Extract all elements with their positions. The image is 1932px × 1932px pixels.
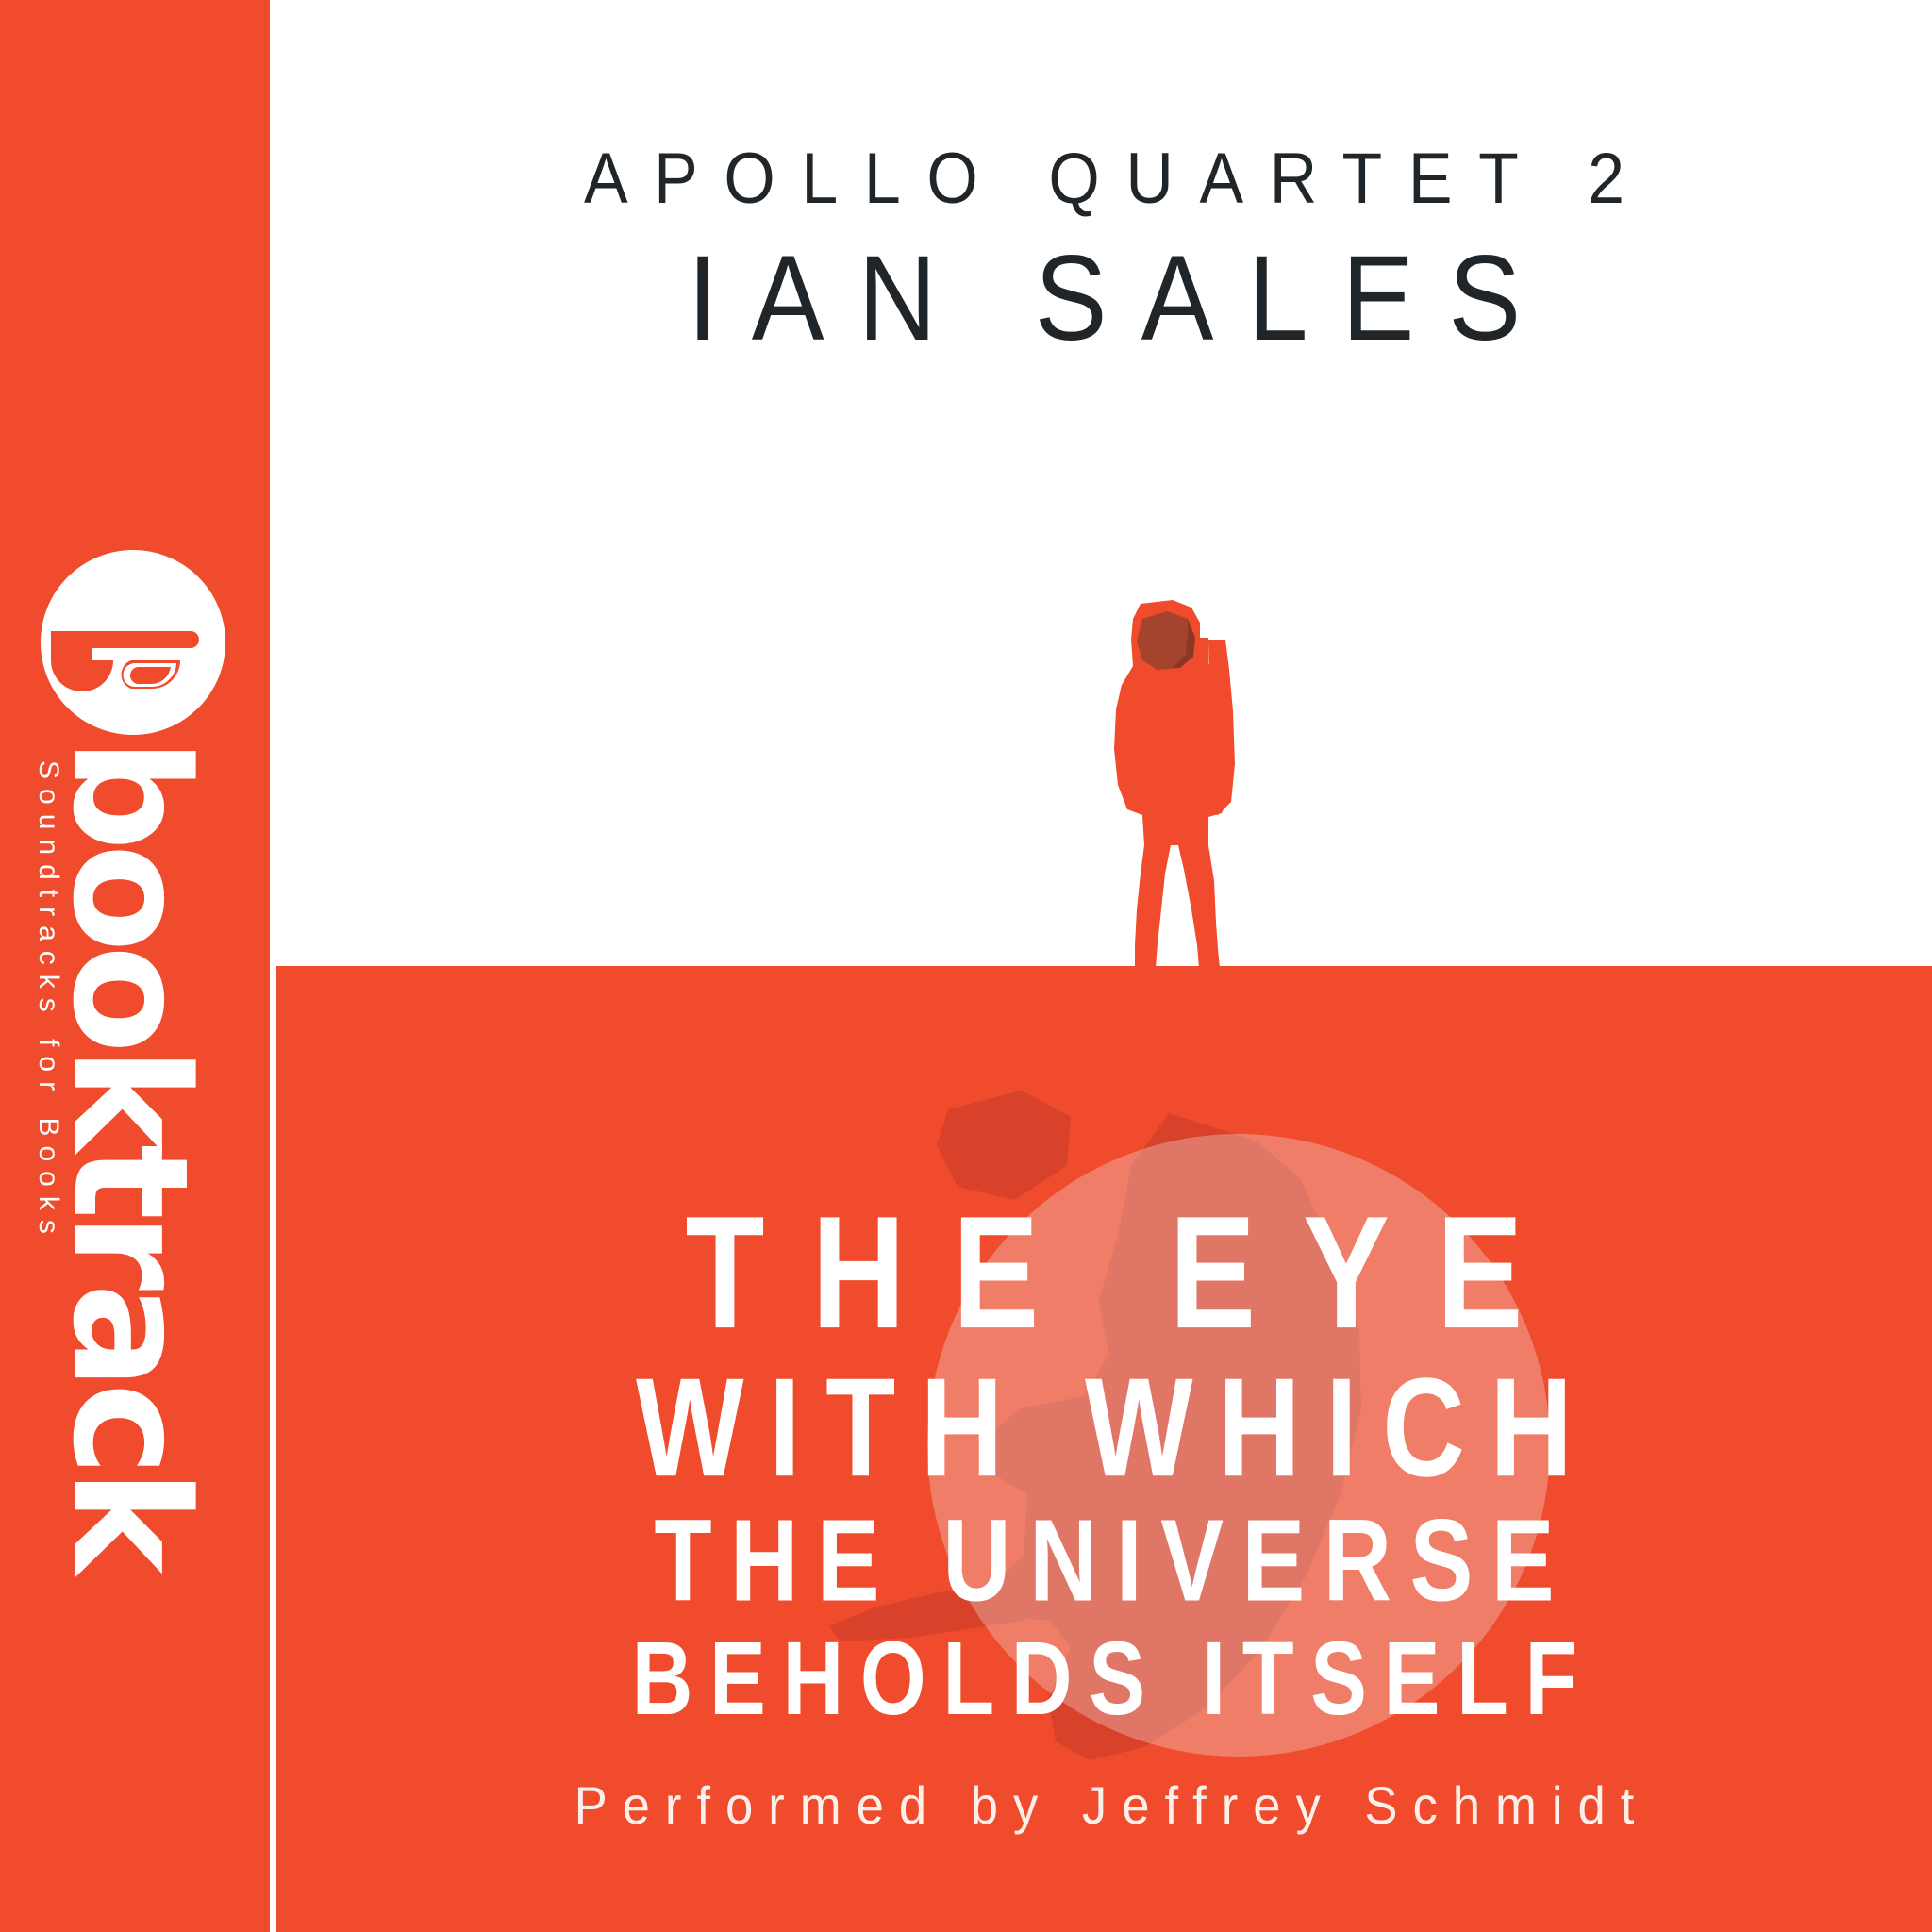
- series-title: APOLLO QUARTET 2: [342, 143, 1866, 215]
- author-name: IAN SALES: [359, 239, 1850, 359]
- astronaut-silhouette-icon: [1067, 598, 1265, 975]
- title-line-2: WITH WHICH: [375, 1357, 1832, 1498]
- booktrack-tagline: Soundtracks for Books: [34, 760, 62, 1243]
- title-line-3: THE UNIVERSE: [375, 1504, 1832, 1620]
- title-line-4: BEHOLDS ITSELF: [375, 1626, 1832, 1730]
- booktrack-wordmark: booktrack: [51, 738, 209, 1567]
- title-line-1: THE EYE: [392, 1192, 1816, 1353]
- spine-divider: [270, 0, 276, 1932]
- performer-credit: Performed by Jeffrey Schmidt: [326, 1779, 1883, 1832]
- audiobook-cover: booktrack Soundtracks for Books APOLLO Q…: [0, 0, 1932, 1932]
- lower-orange-block: THE EYE WITH WHICH THE UNIVERSE BEHOLDS …: [276, 966, 1932, 1932]
- front-cover-panel: APOLLO QUARTET 2 IAN SALES: [276, 0, 1932, 1932]
- booktrack-wordmark-group: booktrack Soundtracks for Books: [0, 0, 270, 1932]
